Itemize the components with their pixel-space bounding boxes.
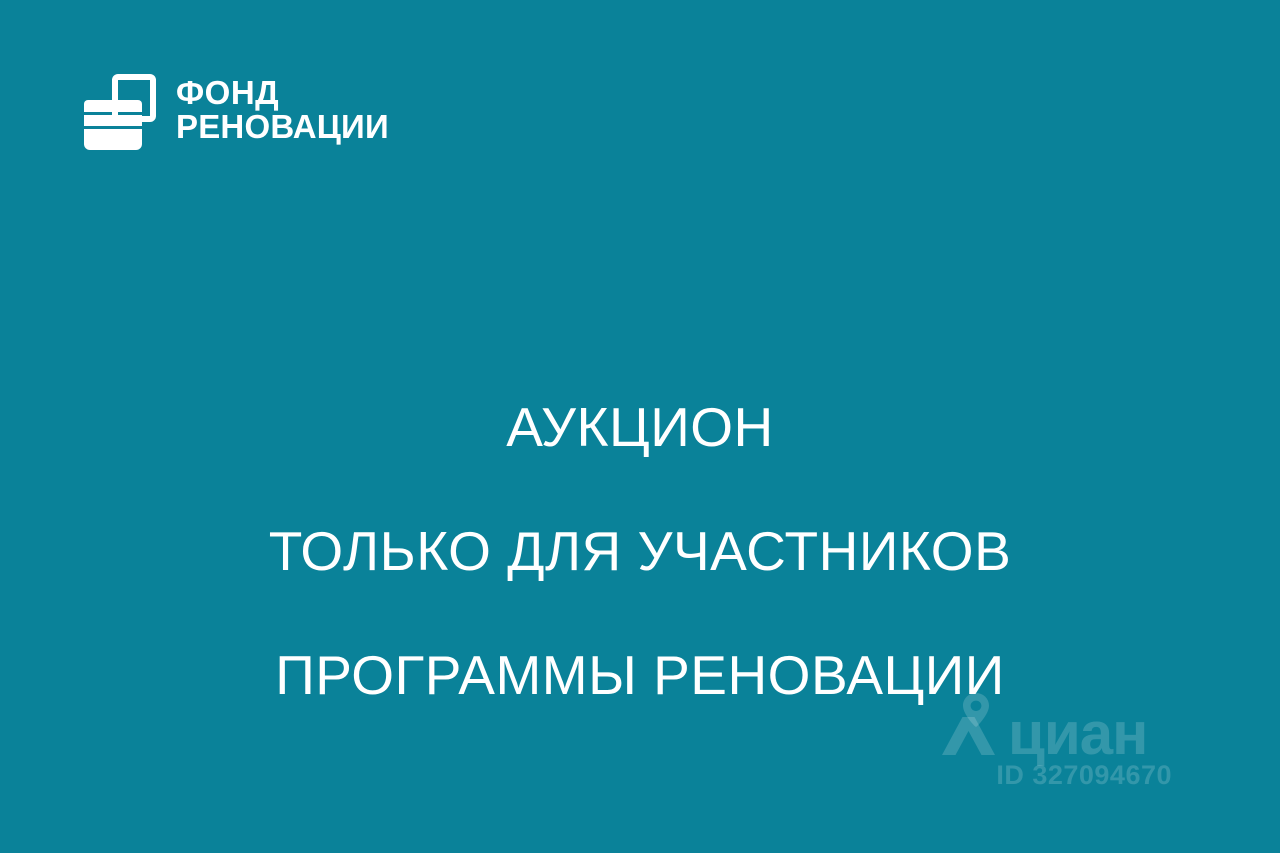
cian-map-pin-roof-icon bbox=[940, 691, 1002, 763]
cian-logo: циан bbox=[940, 691, 1147, 763]
headline-line-2: ТОЛЬКО ДЛЯ УЧАСТНИКОВ bbox=[0, 520, 1280, 582]
listing-image-placeholder: ФОНД РЕНОВАЦИИ АУКЦИОН ТОЛЬКО ДЛЯ УЧАСТН… bbox=[0, 0, 1280, 853]
brand-line-fond: ФОНД bbox=[176, 76, 389, 110]
stacked-bars-shape bbox=[84, 100, 142, 150]
fond-renovatsii-logo: ФОНД РЕНОВАЦИИ bbox=[84, 70, 389, 150]
cian-watermark: циан ID 327094670 bbox=[940, 691, 1172, 791]
stacked-layers-frame-icon bbox=[84, 70, 156, 150]
cian-listing-id: ID 327094670 bbox=[996, 760, 1172, 791]
brand-wordmark: ФОНД РЕНОВАЦИИ bbox=[176, 76, 389, 143]
cian-wordmark: циан bbox=[1008, 705, 1147, 763]
stack-bar-top bbox=[84, 100, 142, 112]
brand-line-renovatsii: РЕНОВАЦИИ bbox=[176, 110, 389, 144]
headline-line-1: АУКЦИОН bbox=[0, 396, 1280, 458]
stack-bar-middle bbox=[84, 115, 142, 126]
stack-bar-bottom bbox=[84, 129, 142, 150]
